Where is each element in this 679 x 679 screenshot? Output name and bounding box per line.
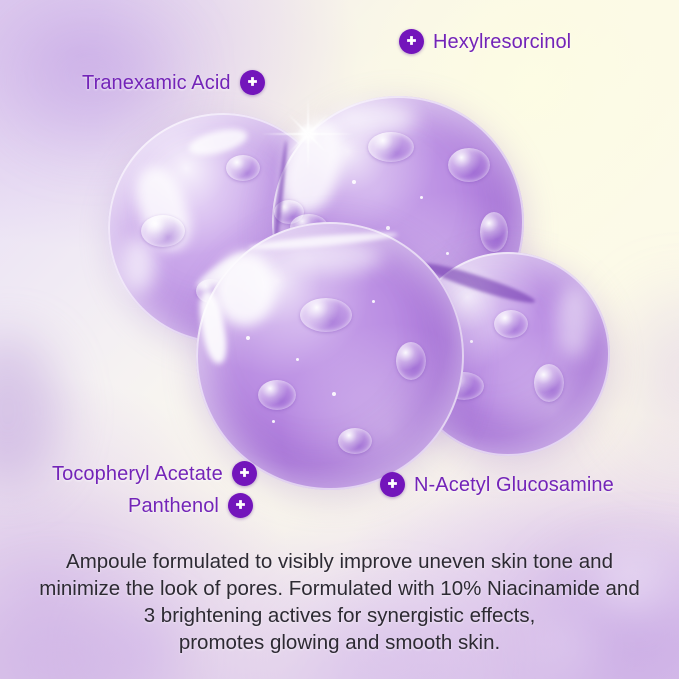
gel-droplet xyxy=(494,310,528,338)
specular-highlight xyxy=(214,252,276,326)
gel-droplet xyxy=(226,155,260,181)
sparkle-speck xyxy=(332,392,336,396)
sparkle-speck xyxy=(372,300,375,303)
ingredient-label-hexylresorcinol[interactable]: Hexylresorcinol xyxy=(399,29,571,54)
description-line: Ampoule formulated to visibly improve un… xyxy=(34,548,645,575)
ingredient-label-text: Tocopheryl Acetate xyxy=(52,464,223,484)
plus-icon xyxy=(399,29,424,54)
gel-droplet xyxy=(338,428,372,454)
ingredient-label-n-acetyl-glucosamine[interactable]: N-Acetyl Glucosamine xyxy=(380,472,614,497)
gel-droplet xyxy=(480,212,508,252)
product-ingredient-graphic: Hexylresorcinol Tranexamic Acid Tocopher… xyxy=(0,0,679,679)
ingredient-label-panthenol[interactable]: Panthenol xyxy=(128,493,253,518)
ingredient-label-text: Panthenol xyxy=(128,496,219,516)
product-description: Ampoule formulated to visibly improve un… xyxy=(0,548,679,656)
sparkle-speck xyxy=(296,358,299,361)
gel-droplet xyxy=(396,342,426,380)
plus-icon xyxy=(228,493,253,518)
gel-droplet xyxy=(448,148,490,182)
ingredient-label-text: N-Acetyl Glucosamine xyxy=(414,475,614,495)
plus-icon xyxy=(232,461,257,486)
ingredient-label-text: Hexylresorcinol xyxy=(433,32,571,52)
specular-highlight xyxy=(556,286,592,358)
sparkle-speck xyxy=(470,340,473,343)
star-sparkle-icon xyxy=(260,86,356,182)
plus-icon xyxy=(240,70,265,95)
description-line: promotes glowing and smooth skin. xyxy=(34,629,645,656)
gel-droplet xyxy=(368,132,414,162)
gel-droplet xyxy=(141,215,185,247)
gel-droplet xyxy=(258,380,296,410)
gel-droplet xyxy=(534,364,564,402)
sparkle-speck xyxy=(272,420,275,423)
sparkle-speck xyxy=(386,226,390,230)
ingredient-label-tranexamic-acid[interactable]: Tranexamic Acid xyxy=(82,70,265,95)
description-line: minimize the look of pores. Formulated w… xyxy=(34,575,645,602)
ingredient-label-text: Tranexamic Acid xyxy=(82,73,231,93)
plus-icon xyxy=(380,472,405,497)
sparkle-speck xyxy=(246,336,250,340)
description-line: 3 brightening actives for synergistic ef… xyxy=(34,602,645,629)
sparkle-speck xyxy=(446,252,449,255)
gel-droplet xyxy=(300,298,352,332)
ingredient-label-tocopheryl-acetate[interactable]: Tocopheryl Acetate xyxy=(52,461,257,486)
sparkle-speck xyxy=(420,196,423,199)
